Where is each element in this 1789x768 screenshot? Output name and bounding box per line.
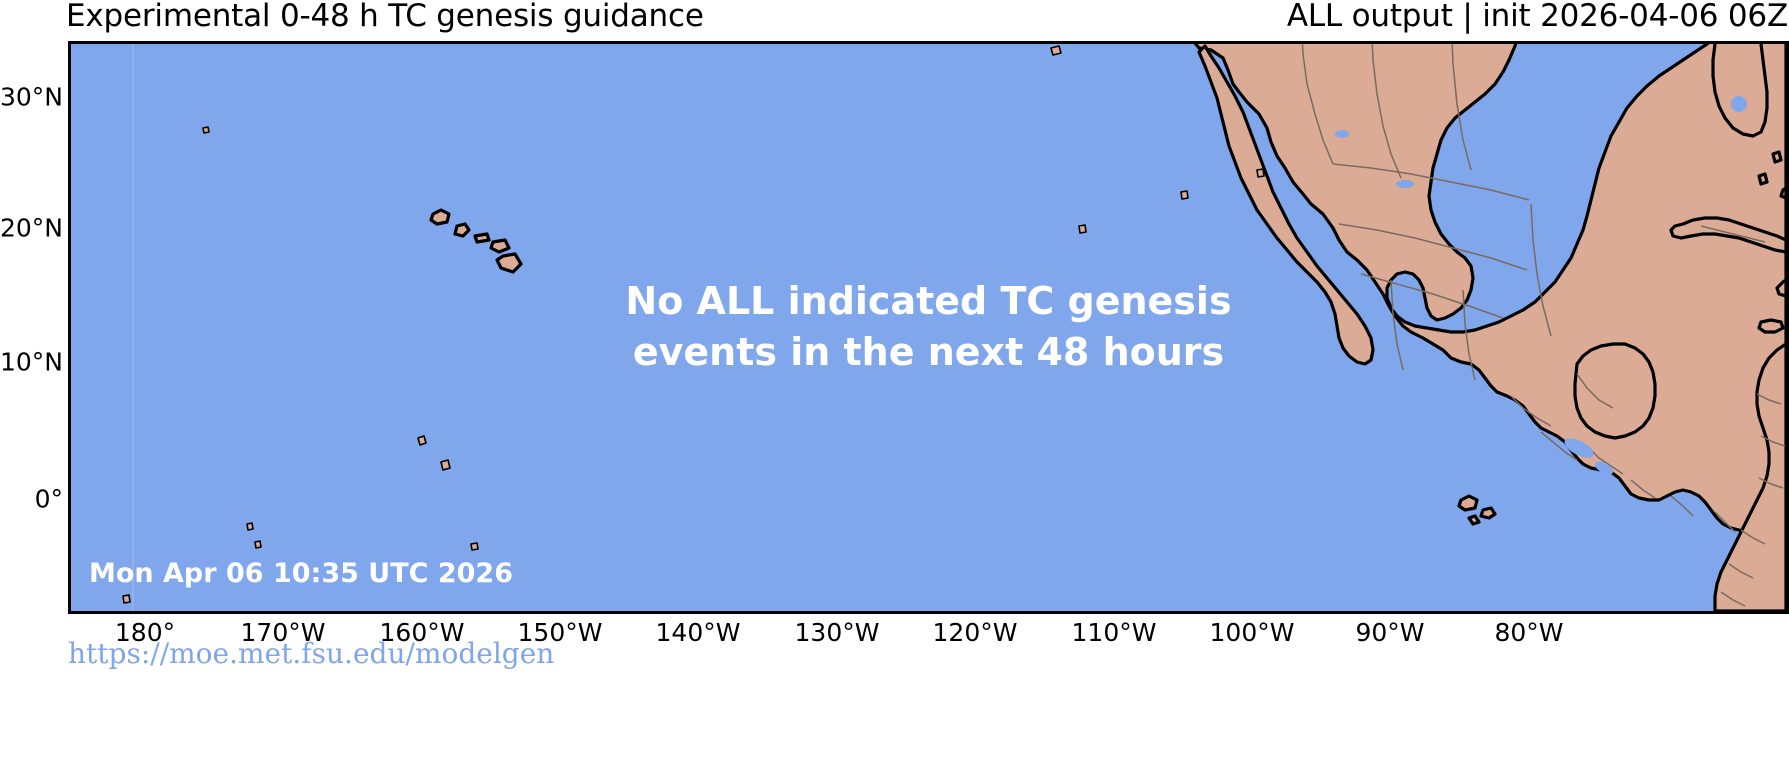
galapagos-island-1: [1459, 496, 1477, 510]
pacific-islet-9: [1051, 46, 1061, 55]
bahamas-islands: [1773, 152, 1781, 162]
landmass-layer: [123, 44, 1786, 611]
page-title: Experimental 0-48 h TC genesis guidance: [66, 0, 704, 34]
tc-genesis-guidance-figure: Experimental 0-48 h TC genesis guidance …: [0, 0, 1789, 768]
pacific-islet-4: [247, 523, 253, 530]
galapagos-island-2: [1481, 508, 1495, 518]
jamaica-island: [1759, 320, 1783, 332]
y-axis-tick-30n: 30°N: [0, 97, 63, 126]
model-init-label: ALL output | init 2026-04-06 06Z: [1287, 0, 1788, 34]
x-axis-tick-90w: 90°W: [1355, 618, 1424, 647]
pacific-islet-1: [203, 127, 209, 133]
hawaii-oahu: [455, 224, 469, 236]
pacific-islet-7: [1079, 225, 1086, 233]
x-axis-tick-110w: 110°W: [1072, 618, 1157, 647]
x-axis-tick-80w: 80°W: [1494, 618, 1563, 647]
bahamas-islands-3: [1781, 188, 1786, 198]
y-axis-tick-10n: 10°N: [0, 362, 63, 391]
pacific-islet-8: [1181, 191, 1188, 199]
pacific-islet-10: [123, 595, 130, 603]
map-canvas: No ALL indicated TC genesis events in th…: [68, 41, 1789, 614]
hawaii-molokai: [475, 234, 489, 242]
pacific-islet-11: [1257, 169, 1264, 177]
figure-header: Experimental 0-48 h TC genesis guidance …: [0, 0, 1789, 40]
bahamas-islands-2: [1759, 174, 1767, 184]
hawaii-maui: [491, 240, 509, 252]
yucatan-peninsula: [1575, 344, 1655, 438]
hawaii-kauai: [431, 210, 449, 224]
galapagos-island-3: [1469, 516, 1479, 524]
hawaii-bigisland: [497, 254, 521, 272]
x-axis-tick-130w: 130°W: [795, 618, 880, 647]
x-axis-tick-100w: 100°W: [1210, 618, 1295, 647]
pacific-islet-3: [441, 460, 450, 470]
y-axis-tick-20n: 20°N: [0, 228, 63, 257]
basemap-svg: [71, 44, 1786, 611]
pacific-islet-2: [418, 436, 426, 445]
pacific-islet-5: [255, 541, 261, 548]
x-axis-tick-120w: 120°W: [933, 618, 1018, 647]
source-url-link[interactable]: https://moe.met.fsu.edu/modelgen: [68, 637, 554, 670]
pacific-islet-6: [471, 543, 478, 550]
y-axis-tick-0: 0°: [35, 499, 63, 528]
x-axis-tick-140w: 140°W: [656, 618, 741, 647]
